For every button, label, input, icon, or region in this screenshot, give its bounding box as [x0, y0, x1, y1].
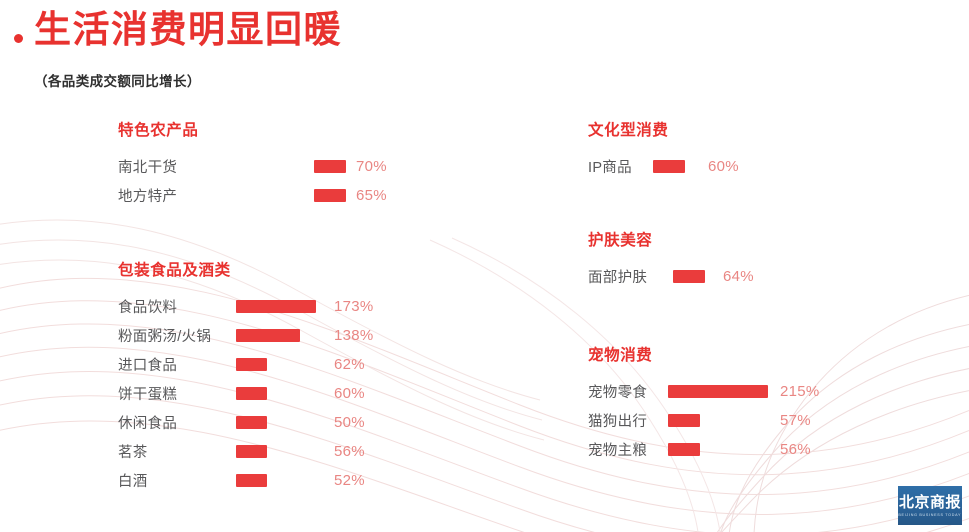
bar-row-label: 宠物主粮 [588, 439, 647, 460]
bar-row-list: 食品饮料173%粉面粥汤/火锅138%进口食品62%饼干蛋糕60%休闲食品50%… [118, 292, 448, 495]
bar-track [653, 160, 685, 173]
bar-fill [236, 445, 267, 458]
chart-section: 文化型消费IP商品60% [588, 118, 918, 181]
bar-row-label: 饼干蛋糕 [118, 383, 177, 404]
bar-track [668, 443, 700, 456]
bar-row-list: 宠物零食215%猫狗出行57%宠物主粮56% [588, 377, 918, 464]
bar-fill [236, 474, 267, 487]
bar-row-label: 猫狗出行 [588, 410, 647, 431]
logo-name-en: BEIJING BUSINESS TODAY [899, 512, 962, 516]
bar-fill [653, 160, 685, 173]
bullet-dot-icon [14, 34, 23, 43]
bar-row-value: 56% [334, 443, 365, 460]
logo-name-cn: 北京商报 [899, 495, 961, 510]
bar-row-value: 60% [334, 385, 365, 402]
section-title: 包装食品及酒类 [118, 258, 448, 280]
bar-row-value: 215% [780, 383, 820, 400]
bar-row-value: 56% [780, 441, 811, 458]
bar-track [236, 387, 267, 400]
chart-section: 特色农产品南北干货70%地方特产65% [118, 118, 448, 210]
section-title: 文化型消费 [588, 118, 918, 140]
bar-row-label: 进口食品 [118, 354, 177, 375]
bar-row-label: 食品饮料 [118, 296, 177, 317]
bar-row: 宠物零食215% [588, 377, 918, 406]
bar-row-value: 64% [723, 268, 754, 285]
infographic-page: 生活消费明显回暖 （各品类成交额同比增长） 特色农产品南北干货70%地方特产65… [0, 0, 969, 532]
bar-row: 食品饮料173% [118, 292, 448, 321]
bar-track [236, 474, 267, 487]
bar-fill [314, 160, 346, 173]
bar-row-label: 白酒 [118, 470, 148, 491]
bar-row-value: 50% [334, 414, 365, 431]
bar-row-value: 65% [356, 187, 387, 204]
chart-section: 包装食品及酒类食品饮料173%粉面粥汤/火锅138%进口食品62%饼干蛋糕60%… [118, 258, 448, 495]
chart-section: 护肤美容面部护肤64% [588, 228, 918, 291]
bar-row: 白酒52% [118, 466, 448, 495]
bar-row-list: 南北干货70%地方特产65% [118, 152, 448, 210]
bar-row-value: 138% [334, 327, 374, 344]
header: 生活消费明显回暖 [14, 10, 342, 50]
bar-row: 猫狗出行57% [588, 406, 918, 435]
bar-fill [314, 189, 346, 202]
bar-row: 休闲食品50% [118, 408, 448, 437]
bar-row: 粉面粥汤/火锅138% [118, 321, 448, 350]
section-title: 护肤美容 [588, 228, 918, 250]
page-title: 生活消费明显回暖 [34, 10, 342, 50]
chart-section: 宠物消费宠物零食215%猫狗出行57%宠物主粮56% [588, 343, 918, 464]
bar-row-label: 面部护肤 [588, 266, 647, 287]
bar-track [236, 358, 267, 371]
bar-row-label: 南北干货 [118, 156, 177, 177]
bar-fill [668, 385, 768, 398]
bar-row: IP商品60% [588, 152, 918, 181]
bar-row-value: 57% [780, 412, 811, 429]
bar-row-list: IP商品60% [588, 152, 918, 181]
bar-row: 茗茶56% [118, 437, 448, 466]
bar-track [668, 385, 768, 398]
bar-fill [668, 414, 700, 427]
bar-track [314, 189, 346, 202]
bar-row: 宠物主粮56% [588, 435, 918, 464]
section-title: 特色农产品 [118, 118, 448, 140]
bar-track [673, 270, 705, 283]
bar-row: 进口食品62% [118, 350, 448, 379]
bar-track [314, 160, 346, 173]
bar-row: 南北干货70% [118, 152, 448, 181]
bar-track [236, 329, 300, 342]
page-subtitle: （各品类成交额同比增长） [34, 70, 201, 90]
bar-row-label: 宠物零食 [588, 381, 647, 402]
bar-row-label: 地方特产 [118, 185, 177, 206]
section-title: 宠物消费 [588, 343, 918, 365]
publisher-logo: 北京商报 BEIJING BUSINESS TODAY [898, 486, 962, 525]
bar-fill [236, 300, 316, 313]
bar-row-list: 面部护肤64% [588, 262, 918, 291]
bar-row-label: 茗茶 [118, 441, 148, 462]
bar-fill [236, 358, 267, 371]
bar-fill [668, 443, 700, 456]
bar-row: 地方特产65% [118, 181, 448, 210]
bar-row-label: 休闲食品 [118, 412, 177, 433]
bar-row-value: 52% [334, 472, 365, 489]
bar-row-value: 173% [334, 298, 374, 315]
bar-fill [236, 416, 267, 429]
bar-track [668, 414, 700, 427]
bar-row-label: 粉面粥汤/火锅 [118, 325, 211, 346]
bar-track [236, 300, 316, 313]
bar-row: 饼干蛋糕60% [118, 379, 448, 408]
bar-track [236, 445, 267, 458]
bar-track [236, 416, 267, 429]
bar-fill [673, 270, 705, 283]
bar-fill [236, 329, 300, 342]
bar-fill [236, 387, 267, 400]
bar-row-label: IP商品 [588, 156, 632, 177]
bar-row: 面部护肤64% [588, 262, 918, 291]
bar-row-value: 70% [356, 158, 387, 175]
bar-row-value: 60% [708, 158, 739, 175]
bar-row-value: 62% [334, 356, 365, 373]
